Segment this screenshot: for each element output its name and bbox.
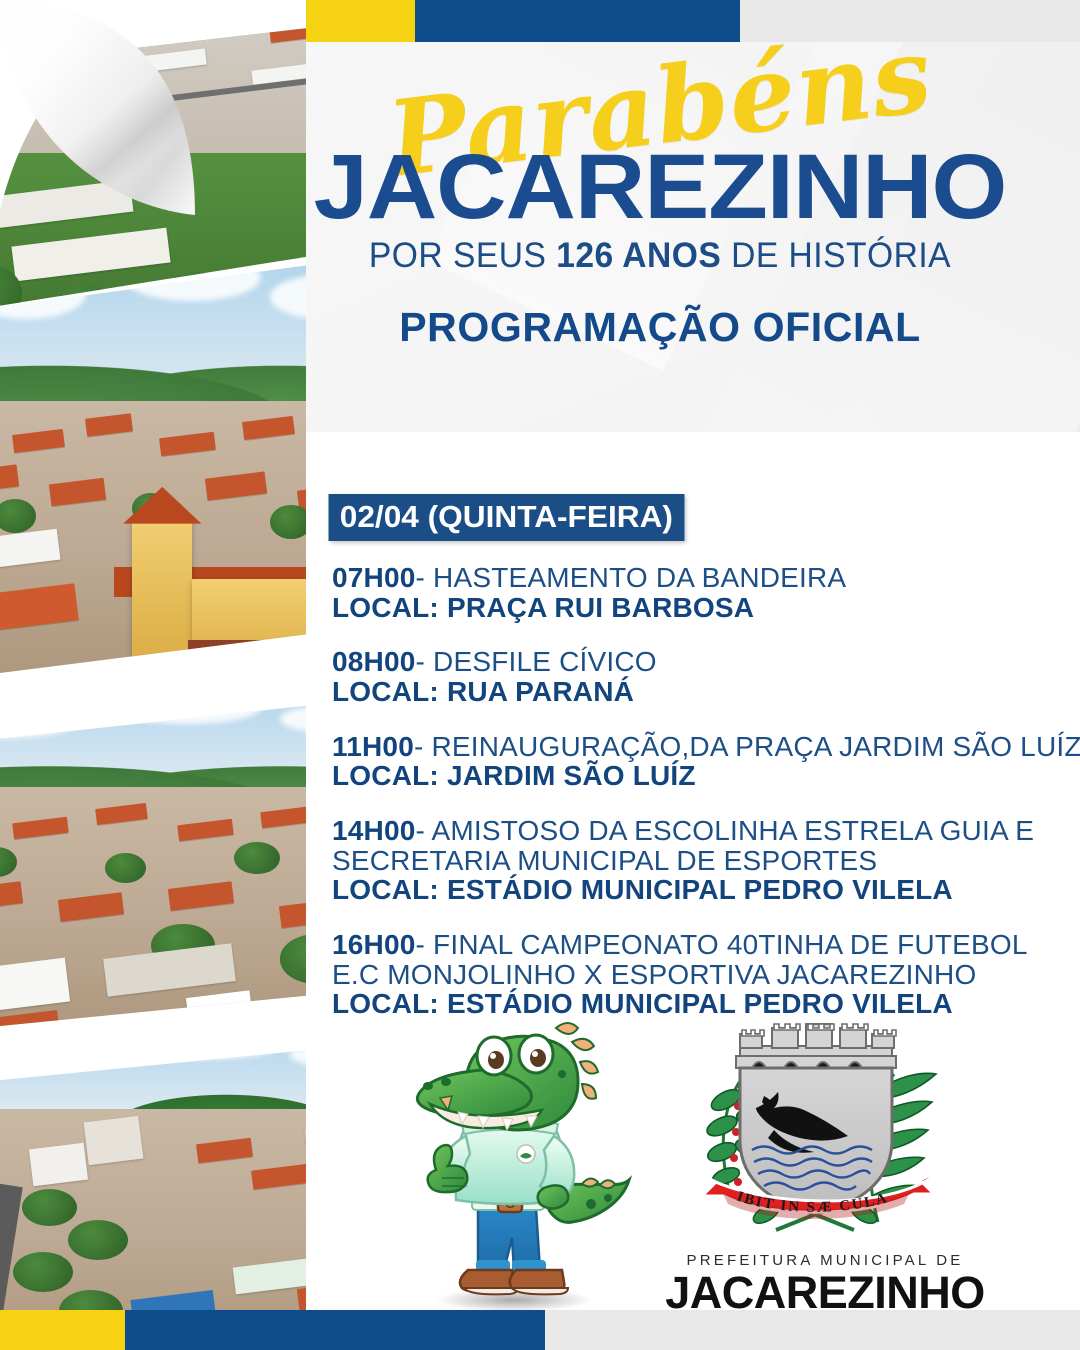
event-location-line: LOCAL: JARDIM SÃO LUÍZ <box>332 761 1012 791</box>
poster-canvas: Parabéns JACAREZINHO POR SEUS 126 ANOS D… <box>0 0 1080 1350</box>
event-headline: 11H00- REINAUGURAÇÃO,DA PRAÇA JARDIM SÃO… <box>332 732 1012 762</box>
event-description: REINAUGURAÇÃO,DA PRAÇA JARDIM SÃO LUÍZ <box>431 731 1080 762</box>
subtitle-suffix: DE HISTÓRIA <box>721 236 951 275</box>
event-time: 11H00 <box>332 731 414 762</box>
event-description: HASTEAMENTO DA BANDEIRA <box>433 562 846 593</box>
subtitle-prefix: POR SEUS <box>369 236 556 275</box>
event-extra-line: E.C MONJOLINHO X ESPORTIVA JACAREZINHO <box>332 960 1012 990</box>
event-item: 16H00- FINAL CAMPEONATO 40TINHA DE FUTEB… <box>332 930 1012 1019</box>
event-dash: - <box>416 929 426 960</box>
local-label: LOCAL: <box>332 874 439 905</box>
event-description: DESFILE CÍVICO <box>433 646 657 677</box>
headline-block: Parabéns JACAREZINHO POR SEUS 126 ANOS D… <box>310 55 1010 351</box>
top-bar-blue <box>415 0 740 42</box>
event-item: 11H00- REINAUGURAÇÃO,DA PRAÇA JARDIM SÃO… <box>332 732 1012 791</box>
coat-of-arms: IBIT IN SÆ CULA <box>678 1022 958 1237</box>
event-location: PRAÇA RUI BARBOSA <box>447 592 754 623</box>
event-location-line: LOCAL: RUA PARANÁ <box>332 677 1012 707</box>
photo-aerial-4 <box>0 1045 306 1345</box>
event-dash: - <box>416 562 426 593</box>
event-location: ESTÁDIO MUNICIPAL PEDRO VILELA <box>447 874 953 905</box>
event-dash: - <box>416 646 426 677</box>
event-headline: 07H00- HASTEAMENTO DA BANDEIRA <box>332 563 1012 593</box>
event-dash: - <box>416 815 426 846</box>
photo-strip <box>0 0 306 1350</box>
event-extra-line: SECRETARIA MUNICIPAL DE ESPORTES <box>332 846 1012 876</box>
event-time: 07H00 <box>332 562 416 593</box>
event-item: 07H00- HASTEAMENTO DA BANDEIRA LOCAL: PR… <box>332 563 1012 622</box>
event-location: JARDIM SÃO LUÍZ <box>447 760 696 791</box>
event-time: 08H00 <box>332 646 416 677</box>
event-dash: - <box>414 731 424 762</box>
local-label: LOCAL: <box>332 676 439 707</box>
photo-aerial-1 <box>0 22 306 312</box>
event-headline: 14H00- AMISTOSO DA ESCOLINHA ESTRELA GUI… <box>332 816 1012 846</box>
local-label: LOCAL: <box>332 760 439 791</box>
event-headline: 08H00- DESFILE CÍVICO <box>332 647 1012 677</box>
event-headline: 16H00- FINAL CAMPEONATO 40TINHA DE FUTEB… <box>332 930 1012 960</box>
event-time: 14H00 <box>332 815 416 846</box>
event-item: 14H00- AMISTOSO DA ESCOLINHA ESTRELA GUI… <box>332 816 1012 905</box>
event-location-line: LOCAL: ESTÁDIO MUNICIPAL PEDRO VILELA <box>332 875 1012 905</box>
mascot-alligator: G <box>386 1012 636 1322</box>
event-time: 16H00 <box>332 929 416 960</box>
event-location-line: LOCAL: PRAÇA RUI BARBOSA <box>332 593 1012 623</box>
bottom-bar-blue <box>125 1310 545 1350</box>
event-description: AMISTOSO DA ESCOLINHA ESTRELA GUIA E <box>431 815 1034 846</box>
bottom-bar-grey <box>545 1310 1080 1350</box>
day-badge: 02/04 (QUINTA-FEIRA) <box>329 494 685 541</box>
bottom-bar-yellow <box>0 1310 125 1350</box>
photo-aerial-2 <box>0 258 306 678</box>
event-description: FINAL CAMPEONATO 40TINHA DE FUTEBOL <box>433 929 1028 960</box>
photo-aerial-3 <box>0 700 306 1030</box>
event-list: 07H00- HASTEAMENTO DA BANDEIRA LOCAL: PR… <box>332 563 1012 1019</box>
subtitle-anniversary: POR SEUS 126 ANOS DE HISTÓRIA <box>324 236 996 276</box>
event-extra: SECRETARIA MUNICIPAL DE ESPORTES <box>332 845 877 876</box>
local-label: LOCAL: <box>332 592 439 623</box>
footer-logo: PREFEITURA MUNICIPAL DE JACAREZINHO <box>660 1252 990 1319</box>
subtitle-years: 126 ANOS <box>556 236 721 275</box>
program-title: PROGRAMAÇÃO OFICIAL <box>310 304 1010 351</box>
event-location: RUA PARANÁ <box>447 676 634 707</box>
page-title: JACAREZINHO <box>289 145 1031 230</box>
event-item: 08H00- DESFILE CÍVICO LOCAL: RUA PARANÁ <box>332 647 1012 706</box>
event-extra: E.C MONJOLINHO X ESPORTIVA JACAREZINHO <box>332 959 976 990</box>
schedule-section: 02/04 (QUINTA-FEIRA) 07H00- HASTEAMENTO … <box>332 494 1012 1044</box>
